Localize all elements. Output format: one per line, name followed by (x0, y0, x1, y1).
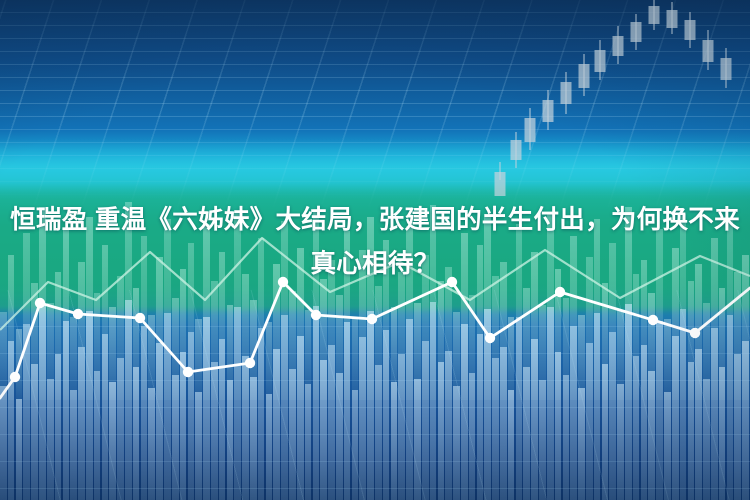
banner-image: 恒瑞盈 重温《六姊妹》大结局，张建国的半生付出，为何换不来真心相待？ (0, 0, 750, 500)
headline-text: 恒瑞盈 重温《六姊妹》大结局，张建国的半生付出，为何换不来真心相待？ (0, 198, 750, 286)
